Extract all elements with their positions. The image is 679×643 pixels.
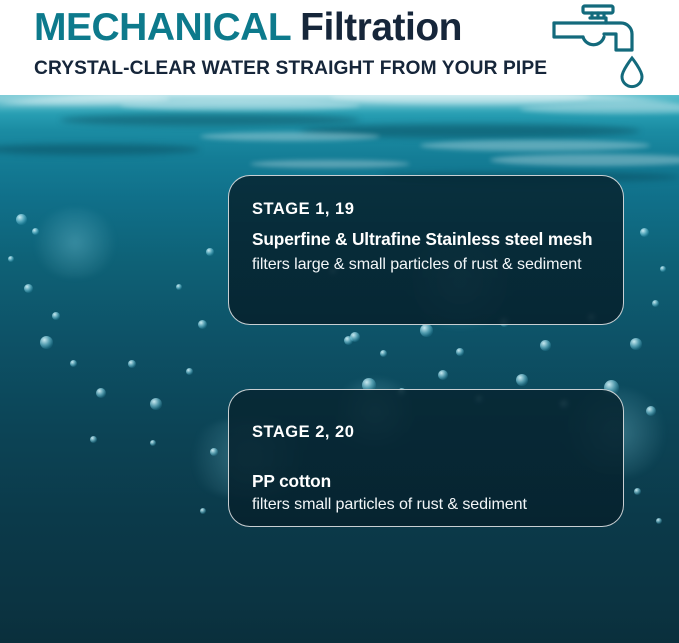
bubble <box>176 284 182 290</box>
bubble <box>16 214 27 225</box>
bubble <box>32 228 39 235</box>
water-ripple <box>520 104 679 114</box>
bubble <box>438 370 448 380</box>
stage-1-detail: filters large & small particles of rust … <box>252 254 605 275</box>
stage-1-headline: Superfine & Ultrafine Stainless steel me… <box>252 229 605 251</box>
water-ripple <box>250 160 410 168</box>
water-ripple <box>490 154 679 166</box>
stage-2-content: STAGE 2, 20 PP cotton filters small part… <box>252 423 605 514</box>
bubble <box>420 324 433 337</box>
stage-2-label: STAGE 2, 20 <box>252 423 605 443</box>
water-ripple <box>420 140 650 151</box>
page-title: MECHANICALFiltration <box>34 8 462 47</box>
header: MECHANICALFiltration CRYSTAL-CLEAR WATER… <box>0 0 679 95</box>
stage-1-label: STAGE 1, 19 <box>252 200 605 220</box>
bubble <box>52 312 60 320</box>
bubble <box>652 300 659 307</box>
title-accent: Filtration <box>300 6 462 49</box>
stage-2-card: STAGE 2, 20 PP cotton filters small part… <box>228 389 624 527</box>
water-ripple <box>120 100 360 111</box>
bubble <box>634 488 641 495</box>
bubble <box>210 448 218 456</box>
bubble <box>646 406 656 416</box>
stage-1-card: STAGE 1, 19 Superfine & Ultrafine Stainl… <box>228 175 624 325</box>
stage-1-content: STAGE 1, 19 Superfine & Ultrafine Stainl… <box>252 200 605 274</box>
bubble <box>70 360 77 367</box>
title-main: MECHANICAL <box>34 6 291 49</box>
underwater-background <box>0 88 679 643</box>
bubble <box>656 518 662 524</box>
bubble <box>206 248 214 256</box>
bubble <box>24 284 33 293</box>
bubble <box>660 266 666 272</box>
bubble <box>516 374 528 386</box>
bubble <box>128 360 136 368</box>
water-ripple <box>200 132 380 141</box>
stage-2-headline: PP cotton <box>252 471 605 493</box>
page-subtitle: CRYSTAL-CLEAR WATER STRAIGHT FROM YOUR P… <box>34 58 547 80</box>
bubble <box>200 508 206 514</box>
bubble <box>40 336 53 349</box>
light-glow <box>30 208 120 278</box>
bubble <box>380 350 387 357</box>
water-ripple-shadow <box>60 114 360 126</box>
bubble <box>344 336 353 345</box>
bubble <box>186 368 193 375</box>
bubble <box>640 228 649 237</box>
bubble <box>456 348 464 356</box>
bubble <box>8 256 14 262</box>
bubble <box>90 436 97 443</box>
bubble <box>540 340 551 351</box>
mechanical-filtration-infographic: MECHANICALFiltration CRYSTAL-CLEAR WATER… <box>0 0 679 643</box>
bubble <box>198 320 207 329</box>
faucet-icon <box>552 4 636 56</box>
bubble <box>630 338 642 350</box>
bubble <box>150 398 162 410</box>
water-ripple-shadow <box>0 144 200 155</box>
stage-2-detail: filters small particles of rust & sedime… <box>252 494 605 515</box>
water-droplet-icon <box>619 55 645 89</box>
bubble <box>96 388 106 398</box>
bubble <box>150 440 156 446</box>
